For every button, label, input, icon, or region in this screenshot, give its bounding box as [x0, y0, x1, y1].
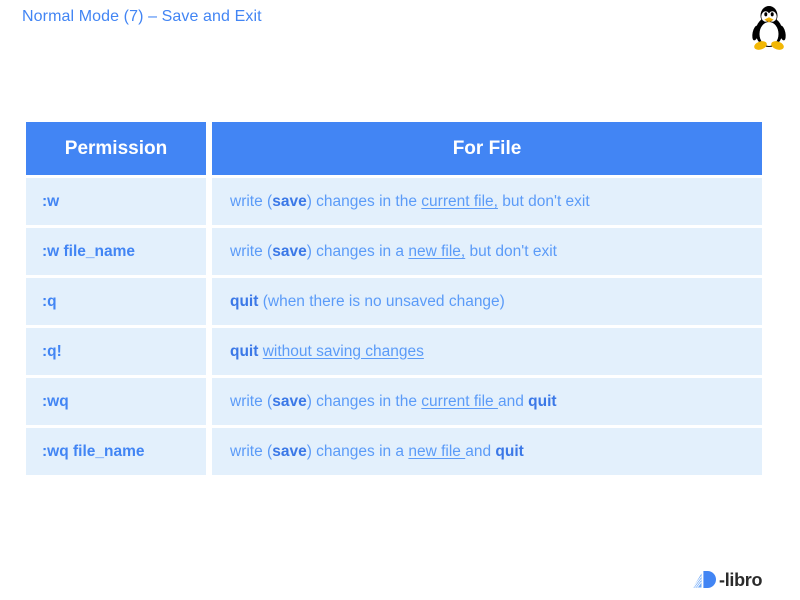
- cell-description: write (save) changes in the current file…: [212, 378, 762, 425]
- description-text: write (save) changes in a new file, but …: [230, 243, 557, 261]
- description-text: write (save) changes in a new file and q…: [230, 443, 524, 461]
- d-libro-logo-text: -libro: [719, 569, 762, 591]
- d-libro-logo: -libro: [692, 567, 784, 593]
- cell-description: write (save) changes in a new file and q…: [212, 428, 762, 475]
- page-title: Normal Mode (7) – Save and Exit: [22, 6, 262, 28]
- description-text: write (save) changes in the current file…: [230, 193, 590, 211]
- table-row: :wq file_namewrite (save) changes in a n…: [26, 428, 762, 475]
- description-text: quit without saving changes: [230, 343, 424, 361]
- description-text: write (save) changes in the current file…: [230, 393, 557, 411]
- column-header-for-file: For File: [212, 122, 762, 175]
- table-row: :w file_namewrite (save) changes in a ne…: [26, 228, 762, 275]
- description-text: quit (when there is no unsaved change): [230, 293, 505, 311]
- linux-tux-penguin-icon: [748, 3, 790, 51]
- column-header-permission: Permission: [26, 122, 206, 175]
- cell-permission: :wq file_name: [26, 428, 206, 475]
- cell-permission: :q: [26, 278, 206, 325]
- cell-description: write (save) changes in a new file, but …: [212, 228, 762, 275]
- table-body: :wwrite (save) changes in the current fi…: [26, 178, 762, 475]
- table-row: :q!quit without saving changes: [26, 328, 762, 375]
- permissions-table: Permission For File :wwrite (save) chang…: [26, 122, 762, 478]
- d-libro-mark-icon: [692, 569, 718, 591]
- cell-permission: :w: [26, 178, 206, 225]
- cell-permission: :wq: [26, 378, 206, 425]
- cell-description: write (save) changes in the current file…: [212, 178, 762, 225]
- table-row: :wwrite (save) changes in the current fi…: [26, 178, 762, 225]
- cell-permission: :q!: [26, 328, 206, 375]
- table-row: :qquit (when there is no unsaved change): [26, 278, 762, 325]
- cell-description: quit without saving changes: [212, 328, 762, 375]
- cell-description: quit (when there is no unsaved change): [212, 278, 762, 325]
- table-header-row: Permission For File: [26, 122, 762, 175]
- cell-permission: :w file_name: [26, 228, 206, 275]
- table-row: :wqwrite (save) changes in the current f…: [26, 378, 762, 425]
